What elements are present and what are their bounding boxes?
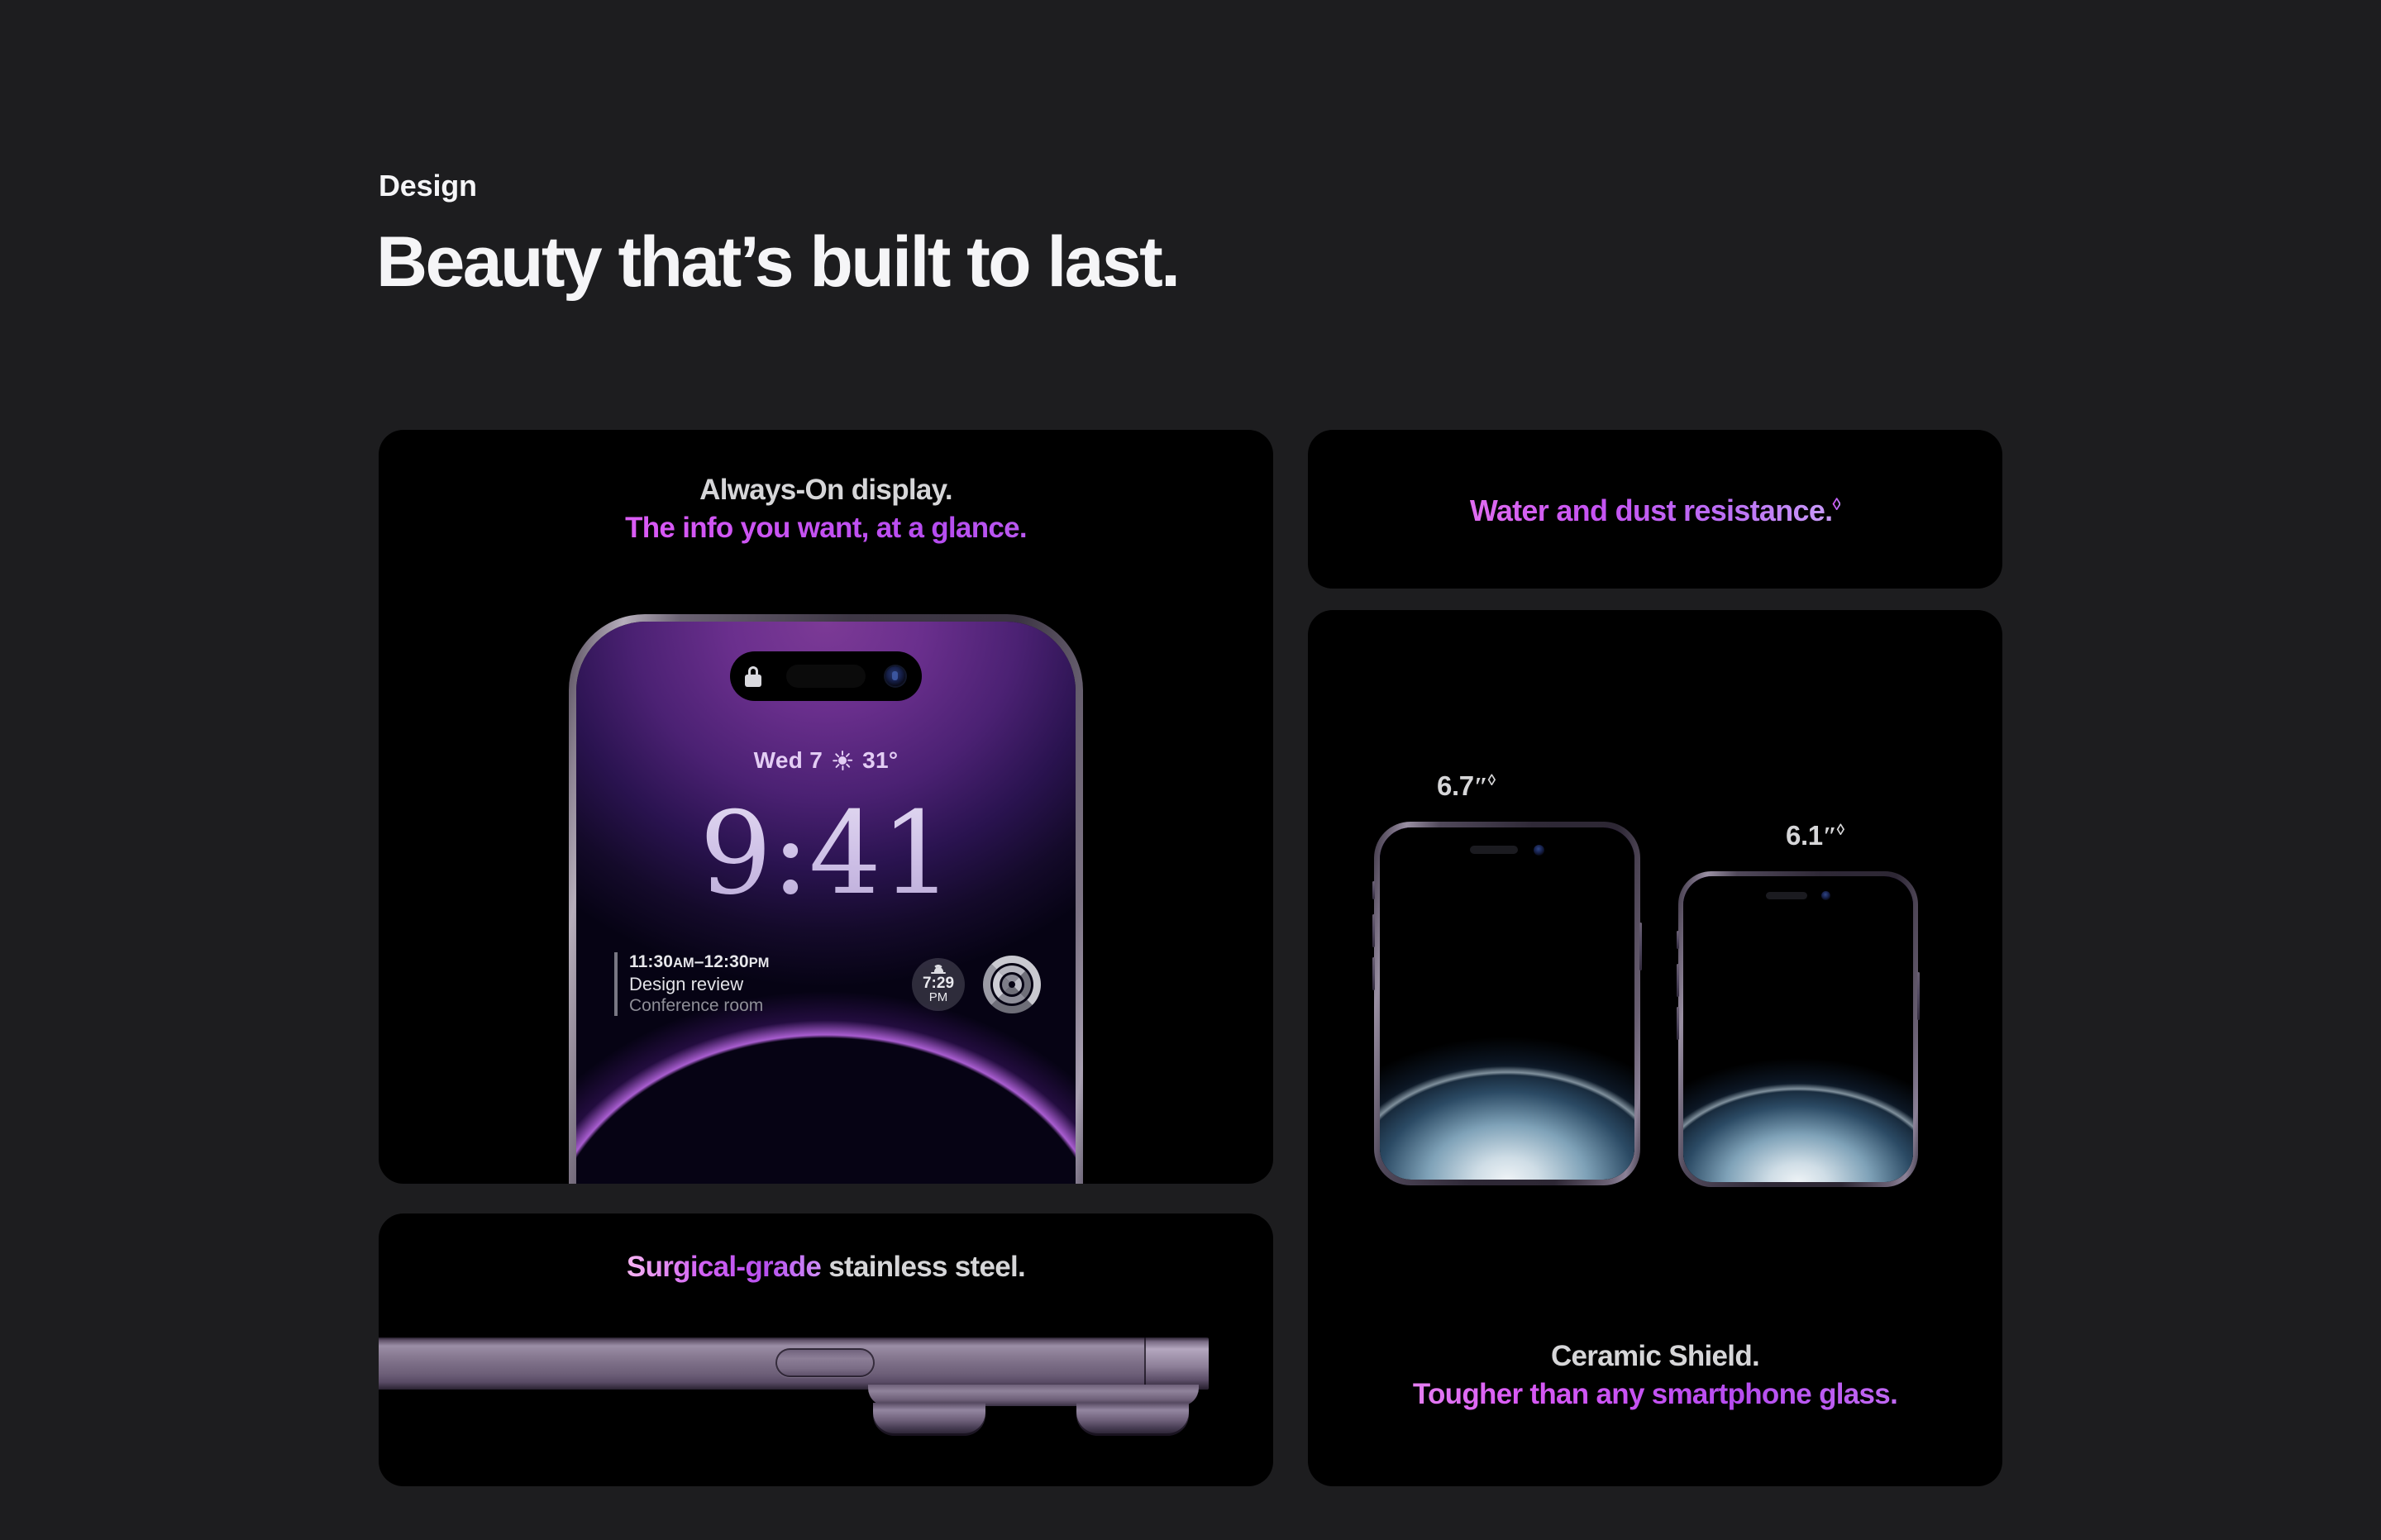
lock-screen-date-weather: Wed 7 31° (576, 747, 1076, 774)
lock-screen-date: Wed 7 (754, 747, 823, 774)
wallpaper-small (1683, 876, 1913, 1182)
volume-up-button (1372, 914, 1375, 947)
front-camera-icon (1821, 891, 1830, 900)
activity-rings-icon[interactable] (983, 956, 1041, 1013)
wallpaper-large (1380, 827, 1634, 1180)
size-label-small: 6.1″◊ (1786, 820, 1844, 851)
volume-down-button (1372, 957, 1375, 990)
calendar-widget[interactable]: 11:30AM–12:30PM Design review Conference… (614, 952, 894, 1016)
dynamic-island-large (1462, 838, 1552, 861)
section-eyebrow: Design (379, 169, 477, 203)
volume-down-button (1677, 1007, 1679, 1040)
water-footnote-marker: ◊ (1832, 495, 1840, 514)
iphone-14-pro-render (1678, 871, 1918, 1187)
sunset-period: PM (929, 991, 948, 1004)
card-always-on-display[interactable]: Always-On display. The info you want, at… (379, 430, 1273, 1184)
steel-caption-highlight: Surgical-grade (627, 1251, 821, 1283)
steel-caption: Surgical-grade stainless steel. (379, 1248, 1273, 1286)
size-label-large: 6.7″◊ (1437, 770, 1496, 802)
lock-icon (745, 666, 761, 687)
design-section: Design Beauty that’s built to last. Alwa… (0, 0, 2381, 1540)
iphone-14-pro-max-render (1374, 822, 1640, 1185)
always-on-caption: Always-On display. The info you want, at… (379, 471, 1273, 547)
lock-screen-clock: 9:41 (576, 787, 1076, 920)
calendar-event-location: Conference room (629, 996, 894, 1016)
front-camera-icon (885, 666, 905, 686)
volume-button (775, 1348, 875, 1377)
water-caption: Water and dust resistance.◊ (1308, 491, 2002, 531)
side-button (1639, 923, 1642, 970)
camera-lens-2 (1076, 1403, 1189, 1436)
lock-screen-temperature: 31° (862, 747, 898, 774)
front-camera-icon (1534, 845, 1544, 856)
dynamic-island-small (1758, 885, 1838, 906)
water-caption-text: Water and dust resistance. (1470, 493, 1833, 527)
mute-switch (1372, 881, 1375, 899)
mute-switch (1677, 931, 1679, 949)
iphone-display: Wed 7 31° 9:41 11:30AM–12:30PM Design re… (576, 622, 1076, 1184)
sunset-icon (931, 965, 946, 974)
always-on-caption-line1: Always-On display. (379, 471, 1273, 509)
iphone-display-large (1380, 827, 1634, 1180)
speaker-pill-icon (1470, 846, 1518, 854)
ceramic-caption-line2: Tougher than any smartphone glass. (1308, 1376, 2002, 1414)
sun-icon (833, 751, 852, 770)
always-on-caption-line2: The info you want, at a glance. (379, 509, 1273, 547)
calendar-event-title: Design review (629, 974, 894, 995)
steel-caption-rest: stainless steel. (821, 1251, 1025, 1283)
iphone-lock-screen-render: Wed 7 31° 9:41 11:30AM–12:30PM Design re… (569, 614, 1083, 1184)
sunset-widget[interactable]: 7:29 PM (912, 958, 965, 1011)
camera-module (868, 1385, 1199, 1436)
calendar-time-range: 11:30AM–12:30PM (629, 952, 894, 972)
card-stainless-steel[interactable]: Surgical-grade stainless steel. (379, 1213, 1273, 1486)
sunset-time: 7:29 (923, 975, 954, 991)
speaker-pill-icon (786, 665, 866, 688)
ceramic-caption-line1: Ceramic Shield. (1308, 1337, 2002, 1376)
card-water-dust-resistance[interactable]: Water and dust resistance.◊ (1308, 430, 2002, 589)
dynamic-island (730, 651, 922, 701)
ceramic-caption: Ceramic Shield. Tougher than any smartph… (1308, 1337, 2002, 1414)
card-ceramic-shield[interactable]: 6.7″◊ 6.1″◊ (1308, 610, 2002, 1486)
page-title: Beauty that’s built to last. (376, 225, 1178, 299)
camera-lens-1 (873, 1403, 985, 1436)
volume-up-button (1677, 964, 1679, 997)
iphone-display-small (1683, 876, 1913, 1182)
speaker-pill-icon (1766, 892, 1807, 899)
lock-screen-widgets: 11:30AM–12:30PM Design review Conference… (614, 952, 1041, 1016)
iphone-side-profile-render (379, 1337, 1273, 1437)
side-button (1917, 972, 1920, 1020)
